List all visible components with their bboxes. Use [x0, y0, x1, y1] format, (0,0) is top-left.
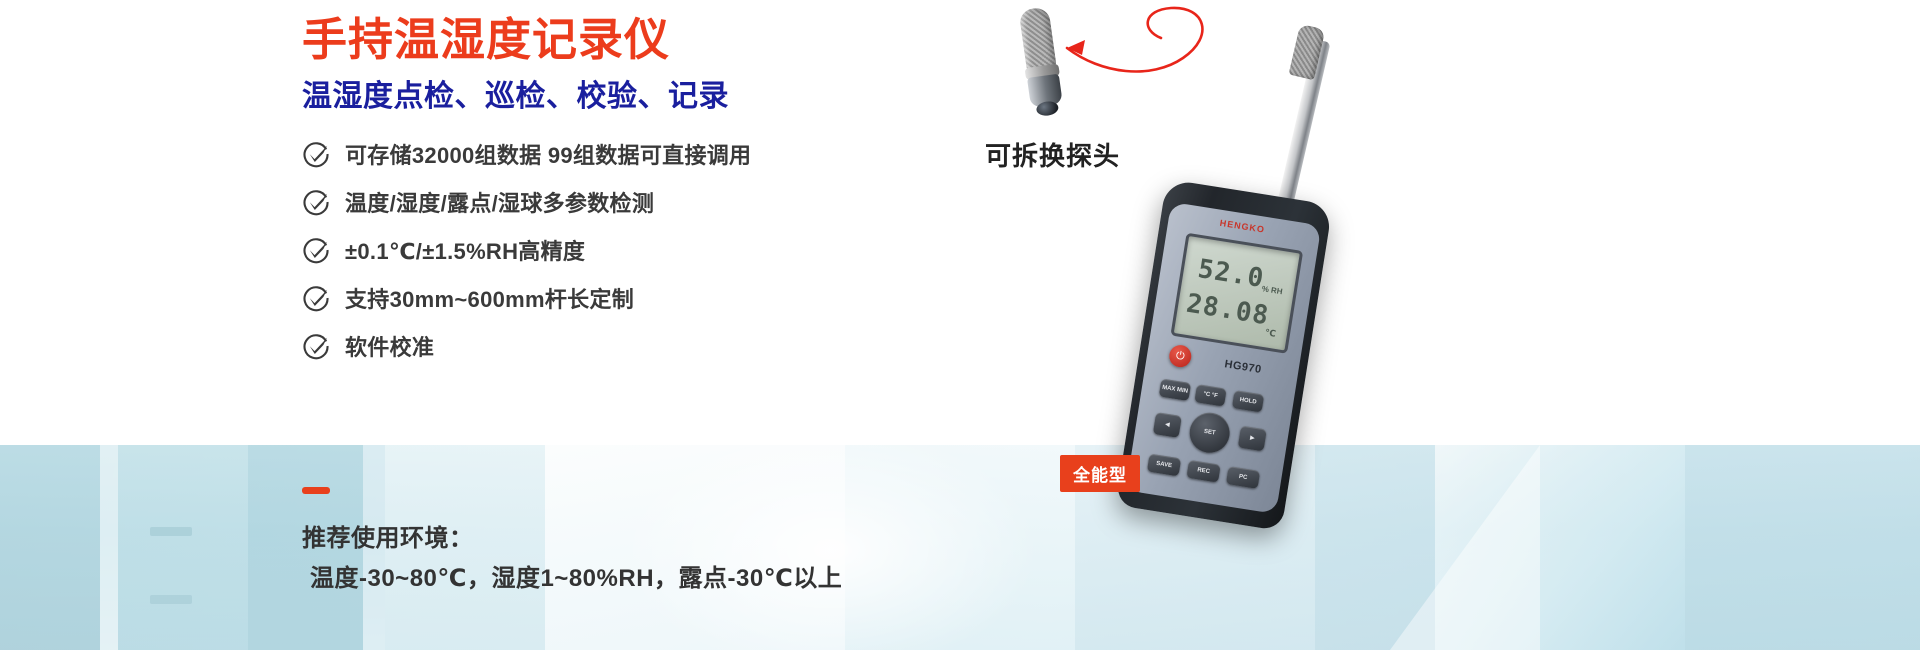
device-key: PC: [1226, 466, 1260, 489]
device-key: ▶: [1238, 426, 1267, 452]
status-badge: 全能型: [1060, 455, 1140, 492]
page-subtitle: 温湿度点检、巡检、校验、记录: [302, 79, 729, 115]
list-item-label: 温度/湿度/露点/湿球多参数检测: [345, 186, 654, 218]
list-item: 温度/湿度/露点/湿球多参数检测: [302, 179, 1062, 225]
bg-shape: [1685, 445, 1920, 650]
recommend-title: 推荐使用环境：: [302, 518, 474, 553]
check-circle-icon: [302, 284, 330, 312]
list-item: ±0.1℃/±1.5%RH高精度: [302, 227, 1062, 273]
bg-glow: [620, 445, 1040, 650]
section-divider-dash: [302, 487, 330, 494]
list-item: 支持30mm~600mm杆长定制: [302, 275, 1062, 321]
list-item: 软件校准: [302, 323, 1062, 369]
check-circle-icon: [302, 188, 330, 216]
device-key: HOLD: [1232, 390, 1264, 412]
check-circle-icon: [302, 236, 330, 264]
device-power-button: ⏻: [1168, 344, 1193, 369]
recommend-detail: 温度-30~80℃，湿度1~80%RH，露点-30℃以上: [310, 558, 842, 593]
bg-shape: [118, 445, 248, 650]
device-model-label: HG970: [1224, 358, 1263, 376]
device-key: SET: [1187, 410, 1233, 456]
list-item: 可存储32000组数据 99组数据可直接调用: [302, 131, 1062, 177]
lcd-humidity-value: 52.0: [1196, 254, 1266, 294]
device-keypad: MAX MIN °C °F HOLD SET ◀ ▶ SAVE REC PC: [1140, 378, 1282, 506]
lcd-humidity-unit: % RH: [1261, 284, 1283, 296]
device-body: HENGKO 52.0 % RH 28.08 ℃ ⏻ HG970 MAX MIN…: [1115, 179, 1333, 531]
device-key: ◀: [1153, 412, 1182, 438]
device-key: REC: [1186, 460, 1220, 483]
product-banner: 手持温湿度记录仪 温湿度点检、巡检、校验、记录 可存储32000组数据 99组数…: [0, 0, 1920, 650]
feature-list: 可存储32000组数据 99组数据可直接调用 温度/湿度/露点/湿球多参数检测 …: [302, 131, 1062, 371]
device-key: SAVE: [1147, 454, 1181, 477]
list-item-label: 软件校准: [345, 330, 434, 362]
device-lcd-screen: 52.0 % RH 28.08 ℃: [1170, 233, 1303, 354]
bg-shape: [150, 595, 192, 604]
device-key: °C °F: [1194, 384, 1226, 406]
device-brand: HENGKO: [1214, 217, 1271, 238]
device-faceplate: HENGKO 52.0 % RH 28.08 ℃ ⏻ HG970 MAX MIN…: [1126, 202, 1322, 514]
list-item-label: 支持30mm~600mm杆长定制: [345, 282, 634, 314]
bg-shape: [100, 445, 118, 650]
page-title: 手持温湿度记录仪: [302, 14, 670, 66]
list-item-label: ±0.1℃/±1.5%RH高精度: [345, 234, 585, 266]
bg-shape: [1390, 445, 1540, 650]
bg-shape: [0, 445, 100, 650]
background-photo-band: [0, 445, 1920, 650]
check-circle-icon: [302, 140, 330, 168]
list-item-label: 可存储32000组数据 99组数据可直接调用: [345, 138, 751, 170]
lcd-temperature-unit: ℃: [1264, 327, 1276, 340]
check-circle-icon: [302, 332, 330, 360]
lcd-temperature-value: 28.08: [1184, 289, 1271, 332]
bg-shape: [150, 527, 192, 536]
device-key: MAX MIN: [1159, 379, 1191, 401]
